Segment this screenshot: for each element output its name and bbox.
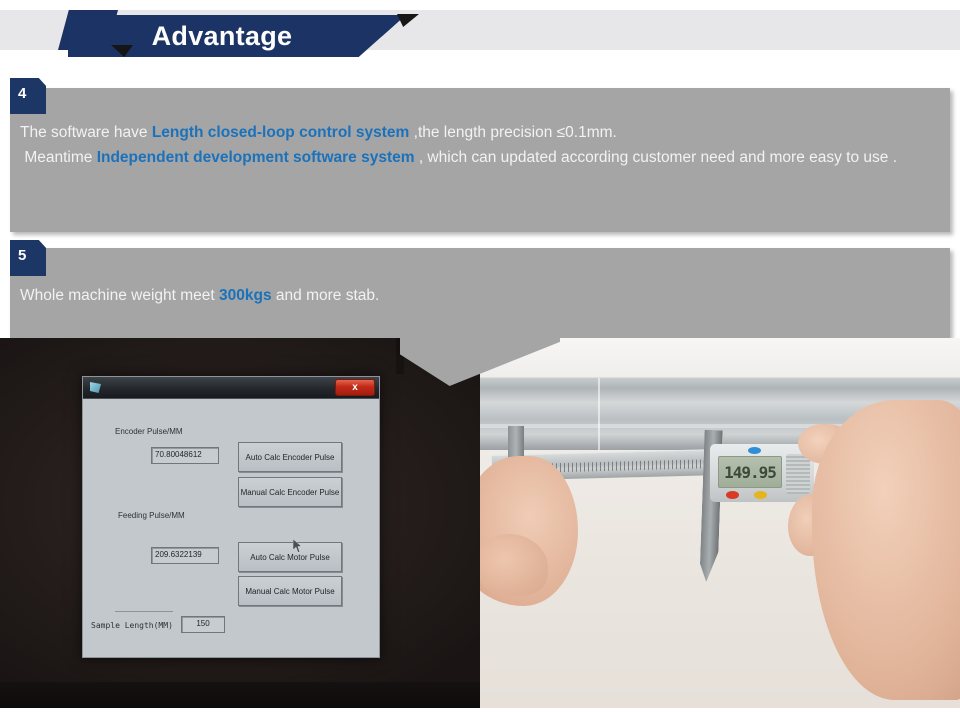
- highlighted-phrase: Independent development software system: [97, 149, 415, 166]
- feeding-pulse-label: Feeding Pulse/MM: [118, 511, 185, 520]
- app-icon: [90, 382, 101, 393]
- body-text-run: The software have: [20, 124, 152, 141]
- manual-calc-encoder-pulse-button[interactable]: Manual Calc Encoder Pulse: [238, 477, 342, 507]
- caliper-lcd-screen: 149.95: [718, 456, 782, 488]
- auto-calc-motor-pulse-button[interactable]: Auto Calc Motor Pulse: [238, 542, 342, 572]
- feeding-pulse-input[interactable]: 209.6322139: [151, 547, 219, 564]
- photo-strip: x Encoder Pulse/MM 70.80048612 Auto Calc…: [0, 338, 960, 708]
- software-screenshot-photo: x Encoder Pulse/MM 70.80048612 Auto Calc…: [0, 338, 480, 708]
- dialog-body: Encoder Pulse/MM 70.80048612 Auto Calc E…: [83, 399, 379, 657]
- highlighted-phrase: Length closed-loop control system: [152, 124, 410, 141]
- caliper-measurement-photo: 149.95: [480, 338, 960, 708]
- highlighted-phrase: 300kgs: [219, 287, 272, 304]
- caliper-reading: 149.95: [724, 463, 776, 482]
- close-icon[interactable]: x: [335, 379, 375, 396]
- sample-length-input[interactable]: 150: [181, 616, 225, 633]
- manual-calc-motor-pulse-button[interactable]: Manual Calc Motor Pulse: [238, 576, 342, 606]
- sample-length-divider: [115, 611, 173, 612]
- body-text-run: and more stab.: [272, 287, 380, 304]
- encoder-pulse-label: Encoder Pulse/MM: [115, 427, 183, 436]
- body-text-run: , which can updated according customer n…: [415, 149, 898, 166]
- dialog-titlebar: x: [83, 377, 379, 399]
- block-4-badge: 4: [10, 78, 46, 114]
- page-title: Advantage: [152, 21, 323, 52]
- caliper-display-head: 149.95: [710, 444, 814, 502]
- caliper-zero-button[interactable]: [726, 491, 739, 499]
- bottom-margin: [0, 708, 960, 720]
- caliper-power-button[interactable]: [748, 447, 761, 454]
- body-text-run: Whole machine weight meet: [20, 287, 219, 304]
- auto-calc-encoder-pulse-button[interactable]: Auto Calc Encoder Pulse: [238, 442, 342, 472]
- slide-canvas: Advantage 4 The software have Length clo…: [0, 0, 960, 720]
- caliper-thumbwheel[interactable]: [786, 454, 810, 494]
- caliper-unit-button[interactable]: [754, 491, 767, 499]
- mouse-cursor-icon: [293, 539, 303, 553]
- block-4-text: The software have Length closed-loop con…: [20, 120, 930, 170]
- block-5-text: Whole machine weight meet 300kgs and mor…: [20, 283, 930, 308]
- sample-length-label: Sample Length(MM): [91, 621, 173, 630]
- encoder-pulse-input[interactable]: 70.80048612: [151, 447, 219, 464]
- pulse-calibration-dialog: x Encoder Pulse/MM 70.80048612 Auto Calc…: [82, 376, 380, 658]
- block-5-badge: 5: [10, 240, 46, 276]
